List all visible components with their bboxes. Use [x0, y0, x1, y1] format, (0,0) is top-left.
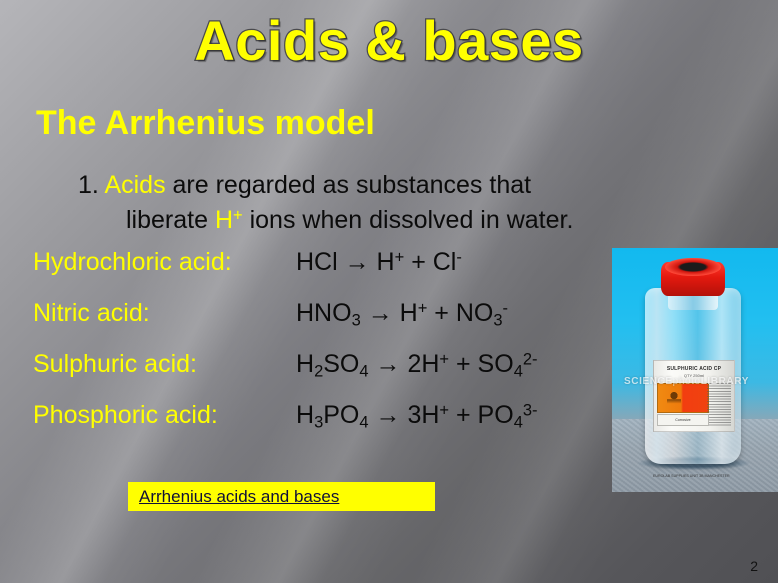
section-subtitle: The Arrhenius model — [36, 104, 375, 143]
photo-label-fineprint — [707, 383, 731, 427]
acid-equation: HCl → H+ + Cl- — [296, 248, 462, 277]
acid-name: Phosphoric acid: — [33, 401, 296, 430]
acid-name: Nitric acid: — [33, 299, 296, 328]
slide: Acids & bases The Arrhenius model 1. Aci… — [0, 0, 778, 583]
acid-equation: H3PO4 → 3H+ + PO43- — [296, 401, 538, 433]
point-number: 1. — [78, 171, 99, 199]
page-number: 2 — [750, 558, 758, 574]
point-line2-before: liberate — [126, 206, 215, 234]
watermark-prefix: SCIENCE — [624, 376, 673, 387]
table-row: Hydrochloric acid: HCl → H+ + Cl- — [33, 248, 613, 299]
hazard-symbol-icon — [657, 383, 709, 413]
hydrogen-charge: + — [233, 206, 243, 224]
acid-equation: H2SO4 → 2H+ + SO42- — [296, 350, 538, 382]
point-line2-rest: ions when dissolved in water. — [243, 206, 574, 234]
arrhenius-link-label[interactable]: Arrhenius acids and bases — [139, 487, 339, 507]
sulphuric-acid-bottle-photo: SULPHURIC ACID CP QTY 250ml Corrosive EU… — [612, 248, 778, 492]
acid-name: Hydrochloric acid: — [33, 248, 296, 277]
watermark-suffix: LIBRARY — [701, 376, 749, 387]
point-line2: liberate H+ ions when dissolved in water… — [78, 203, 728, 238]
point-highlight-acids: Acids — [104, 171, 165, 199]
table-row: Sulphuric acid: H2SO4 → 2H+ + SO42- — [33, 350, 613, 401]
table-row: Nitric acid: HNO3 → H+ + NO3- — [33, 299, 613, 350]
arrhenius-link-box[interactable]: Arrhenius acids and bases — [128, 482, 435, 511]
acid-equation-table: Hydrochloric acid: HCl → H+ + Cl- Nitric… — [33, 248, 613, 452]
photo-label-title: SULPHURIC ACID CP — [658, 366, 730, 372]
photo-label-hazard-caption: Corrosive — [657, 414, 709, 426]
acid-name: Sulphuric acid: — [33, 350, 296, 379]
acid-equation: HNO3 → H+ + NO3- — [296, 299, 508, 331]
table-row: Phosphoric acid: H3PO4 → 3H+ + PO43- — [33, 401, 613, 452]
hydrogen-ion-highlight: H+ — [215, 206, 243, 234]
numbered-point: 1. Acids are regarded as substances that… — [78, 168, 728, 237]
photo-bottle-label: SULPHURIC ACID CP QTY 250ml Corrosive — [653, 360, 735, 432]
photo-label-footer: EUROLAB SUPPLIES UNIT 3B MANCHESTER — [653, 474, 735, 486]
point-line1-rest: are regarded as substances that — [166, 171, 532, 199]
watermark-mid: photo — [673, 376, 701, 387]
hydrogen-symbol: H — [215, 206, 233, 234]
page-title: Acids & bases — [0, 8, 778, 73]
photo-watermark: SCIENCEphotoLIBRARY — [624, 376, 774, 387]
photo-bottle-cap-top — [665, 258, 721, 276]
